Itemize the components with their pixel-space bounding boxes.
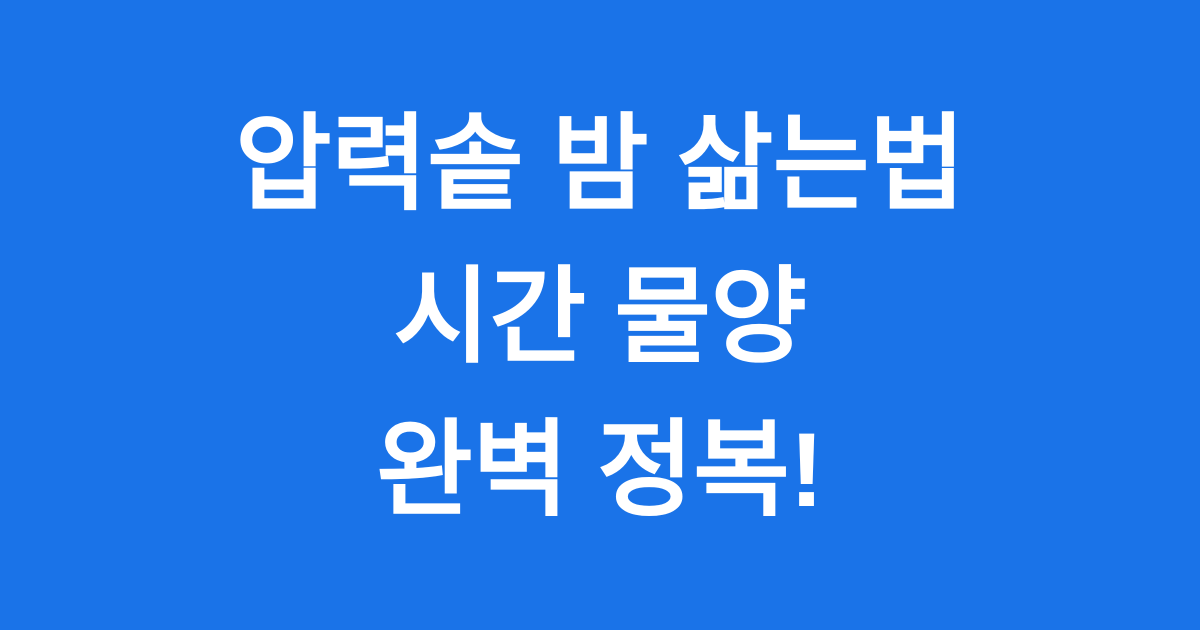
headline-block: 압력솥 밤 삶는법 시간 물양 완벽 정복! — [0, 88, 1200, 547]
headline-line-2: 시간 물양 — [40, 241, 1160, 394]
headline-line-1: 압력솥 밤 삶는법 — [40, 88, 1160, 241]
thumbnail-card: 압력솥 밤 삶는법 시간 물양 완벽 정복! — [0, 0, 1200, 630]
headline-line-3: 완벽 정복! — [40, 394, 1160, 547]
